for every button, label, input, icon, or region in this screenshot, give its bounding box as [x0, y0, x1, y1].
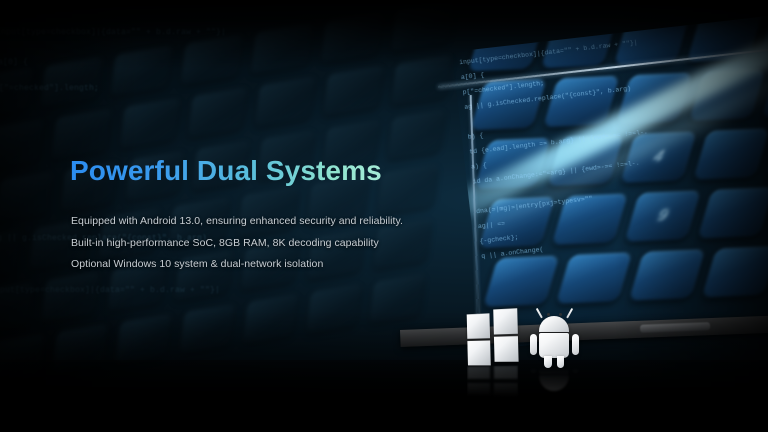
- android-logo-reflection: [528, 367, 580, 401]
- android-arm-right: [572, 334, 579, 355]
- android-head: [539, 316, 569, 332]
- windows-pane-top-right: [493, 308, 518, 334]
- android-antenna-right: [566, 308, 573, 318]
- android-body: [539, 333, 569, 358]
- slide-canvas: input[type=checkbox]|{data="" + b.d.raw …: [0, 0, 768, 432]
- windows-pane-bottom-right: [494, 336, 519, 361]
- android-eye-right: [559, 313, 562, 316]
- windows-pane-bottom-left: [467, 341, 491, 366]
- windows-pane-top-left: [467, 313, 491, 338]
- os-logo-group: [0, 0, 768, 432]
- windows-logo-reflection: [467, 366, 518, 397]
- android-antenna-left: [536, 308, 543, 318]
- android-logo-icon: [528, 306, 580, 366]
- android-arm-left: [530, 334, 537, 355]
- windows-logo-icon: [467, 310, 519, 364]
